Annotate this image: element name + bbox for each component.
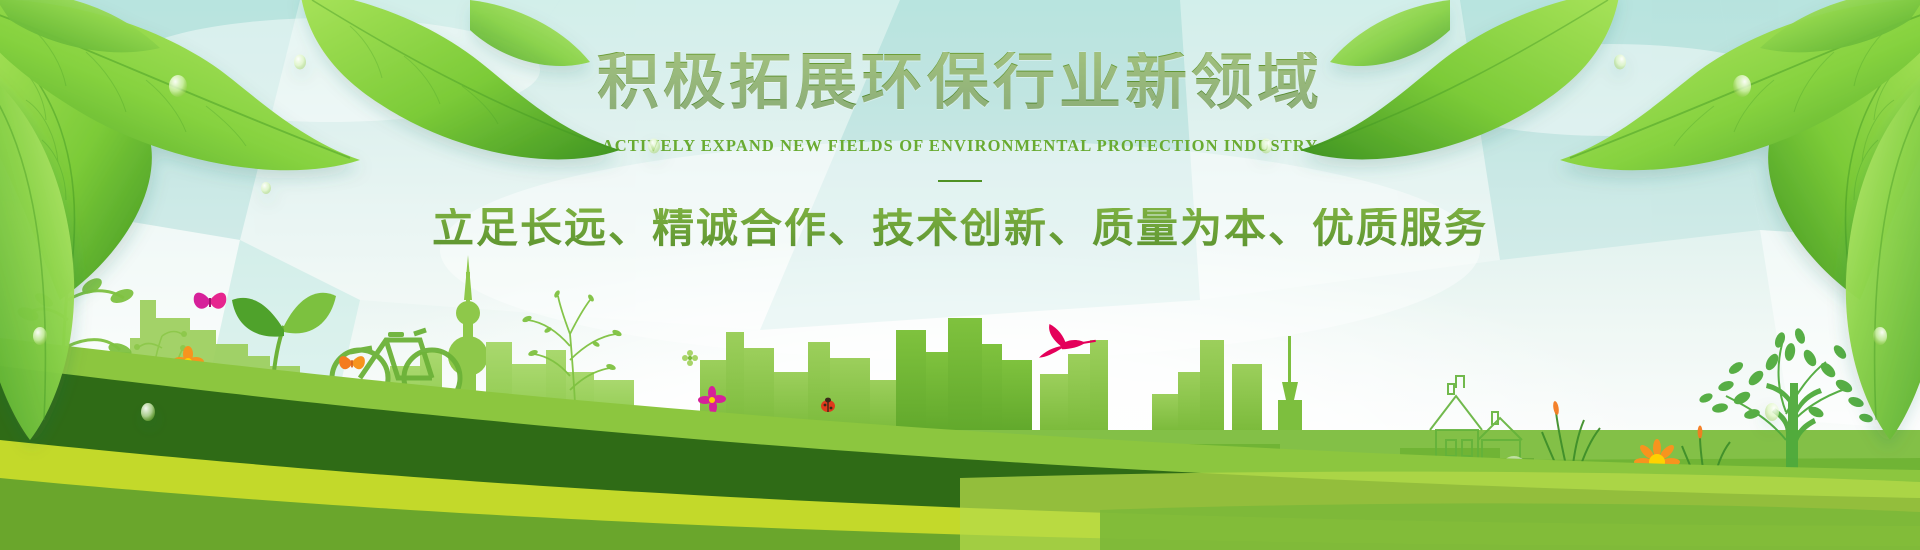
water-drop-icon [648, 139, 660, 154]
water-drop-icon [169, 75, 187, 97]
water-drop-icon [1260, 139, 1272, 154]
leaf-cluster-icon [1260, 0, 1920, 421]
water-drop-icon [1733, 75, 1751, 97]
leaf-cluster-icon [0, 0, 660, 421]
water-drop-icon [1873, 327, 1887, 345]
water-drop-icon [1614, 55, 1626, 70]
water-drop-icon [1765, 403, 1779, 421]
leaf-frame [0, 0, 1920, 550]
water-drop-icon [294, 55, 306, 70]
water-drop-icon [33, 327, 47, 345]
eco-banner: 积极拓展环保行业新领域 ACTIVELY EXPAND NEW FIELDS O… [0, 0, 1920, 550]
water-drop-icon [141, 403, 155, 421]
water-drop-icon [261, 182, 271, 194]
